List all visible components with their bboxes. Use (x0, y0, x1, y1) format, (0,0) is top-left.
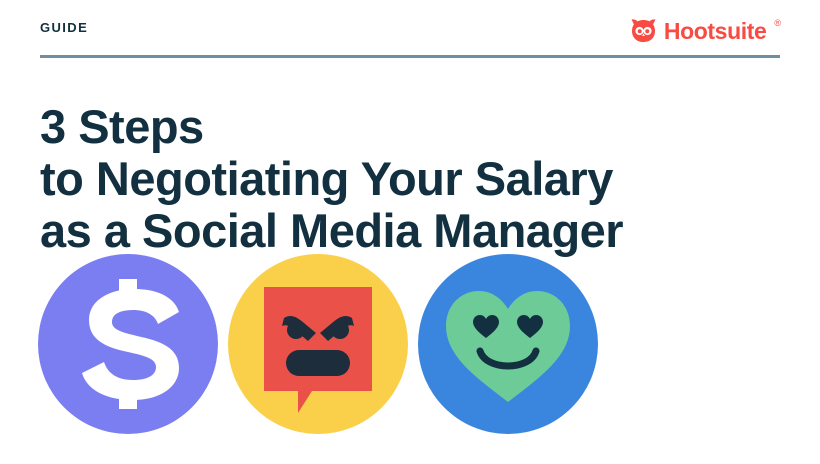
document-type-label: GUIDE (40, 21, 88, 34)
angry-speech-bubble-icon (228, 254, 408, 434)
dollar-sign-icon (38, 254, 218, 434)
registered-trademark-symbol: ® (774, 18, 781, 28)
hootsuite-logo: Hootsuite ® (630, 14, 780, 46)
heart-eyes-smiley-icon (418, 254, 598, 434)
page-header: GUIDE Hootsuite ® (40, 14, 780, 50)
page-title-line-2: to Negotiating Your Salary (40, 153, 800, 205)
page-title: 3 Steps to Negotiating Your Salary as a … (40, 101, 800, 257)
header-divider (40, 55, 780, 58)
illustration-icon-row (38, 254, 783, 436)
hootsuite-wordmark: Hootsuite (664, 20, 766, 43)
page-title-line-1: 3 Steps (40, 101, 800, 153)
hootsuite-owl-icon (630, 18, 657, 43)
guide-cover-page: GUIDE Hootsuite ® (0, 0, 820, 464)
page-title-line-3: as a Social Media Manager (40, 205, 800, 257)
